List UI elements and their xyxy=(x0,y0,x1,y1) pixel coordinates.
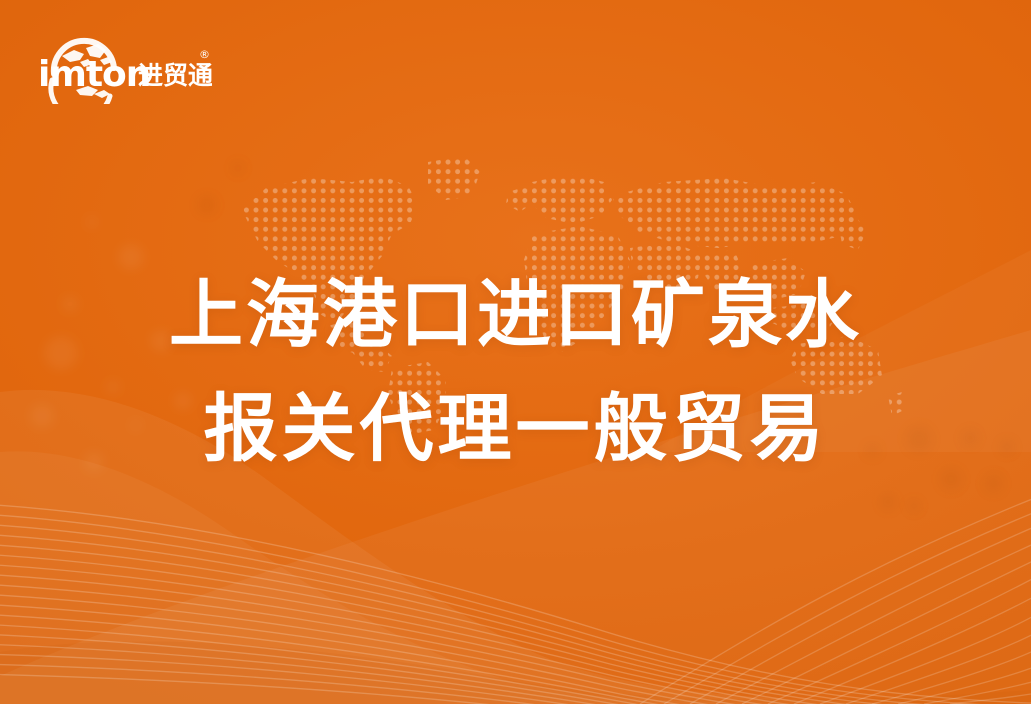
headline-line-2: 报关代理一般贸易 xyxy=(0,372,1031,486)
logo-chinese-name: 进贸通 xyxy=(138,61,212,90)
brand-logo[interactable]: imton 进贸通 ® xyxy=(36,28,212,104)
headline-line-1: 上海港口进口矿泉水 xyxy=(0,258,1031,372)
registered-mark: ® xyxy=(199,48,210,61)
logo-wordmark: imton xyxy=(38,54,150,95)
headline-block: 上海港口进口矿泉水 报关代理一般贸易 xyxy=(0,258,1031,486)
promo-banner: imton 进贸通 ® 上海港口进口矿泉水 报关代理一般贸易 xyxy=(0,0,1031,704)
